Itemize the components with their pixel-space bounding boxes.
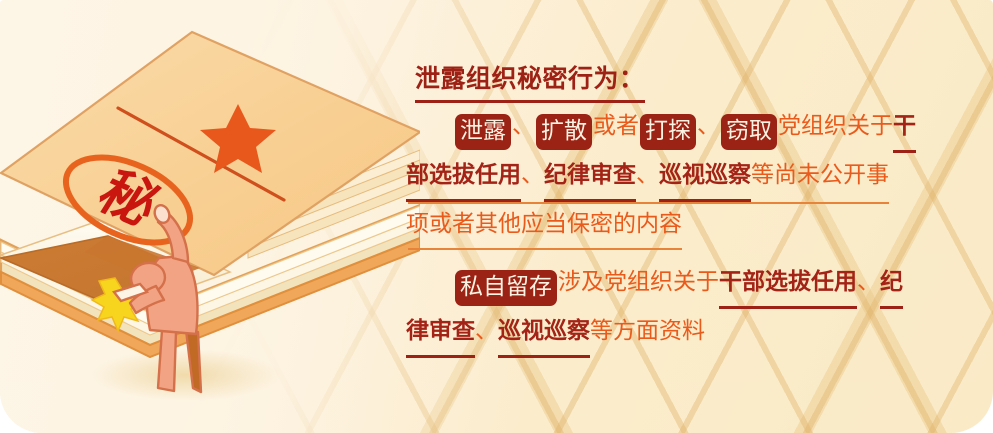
text-line: 泄露、扩散或者打探、窃取党组织关于干: [406, 106, 993, 155]
body-text: 涉及党组织关于: [558, 269, 719, 294]
highlight-tag: 扩散: [536, 114, 592, 150]
text-line-content: 私自留存涉及党组织关于干部选拔任用、纪: [406, 262, 903, 310]
text-line-content: 项或者其他应当保密的内容: [406, 204, 682, 248]
emphasized-term: 干部选拔任用: [719, 262, 857, 305]
emphasized-term: 纪: [880, 262, 903, 305]
emphasized-term: 律审查: [406, 311, 475, 354]
text-line: 部选拔任用、纪律审查、巡视巡察等尚未公开事: [406, 155, 993, 204]
body-text: 等方面资料: [590, 318, 705, 343]
body-text: 党组织关于: [778, 113, 893, 138]
ground-shadow: [90, 349, 280, 401]
emphasized-term: 部选拔任用: [406, 155, 521, 198]
text-line-content: 泄露、扩散或者打探、窃取党组织关于干: [406, 106, 916, 154]
body-text: 等尚未公开事: [751, 162, 889, 187]
body-text: 项或者其他应当保密的内容: [406, 211, 682, 236]
text-column: 泄露组织秘密行为： 泄露、扩散或者打探、窃取党组织关于干部选拔任用、纪律审查、巡…: [406, 0, 993, 433]
body-text: 或者: [593, 113, 639, 138]
highlight-tag: 私自留存: [455, 270, 557, 306]
page-title: 泄露组织秘密行为：: [415, 59, 645, 95]
body-text: 、: [697, 113, 720, 138]
body-text: 、: [857, 269, 880, 294]
body-text: 、: [512, 113, 535, 138]
highlight-tag: 窃取: [721, 114, 777, 150]
poster-card: 秘: [0, 0, 993, 433]
paragraph-2: 私自留存涉及党组织关于干部选拔任用、纪律审查、巡视巡察等方面资料: [406, 262, 993, 360]
body-text: 、: [636, 162, 659, 187]
illustration-secret-document: 秘: [0, 0, 420, 433]
body-text: 、: [521, 162, 544, 187]
text-line: 项或者其他应当保密的内容: [406, 204, 993, 253]
highlight-tag: 泄露: [455, 114, 511, 150]
paragraph-1: 泄露、扩散或者打探、窃取党组织关于干部选拔任用、纪律审查、巡视巡察等尚未公开事项…: [406, 106, 993, 253]
emphasized-term: 巡视巡察: [498, 311, 590, 354]
highlight-tag: 打探: [640, 114, 696, 150]
body-text: 、: [475, 318, 498, 343]
emphasized-term: 纪律审查: [544, 155, 636, 198]
illustration-svg: 秘: [0, 0, 420, 433]
text-line-content: 律审查、巡视巡察等方面资料: [406, 311, 705, 358]
page-title-underline: [415, 100, 645, 103]
page-title-text: 泄露组织秘密行为：: [415, 66, 645, 93]
text-line: 律审查、巡视巡察等方面资料: [406, 311, 993, 360]
text-line-content: 部选拔任用、纪律审查、巡视巡察等尚未公开事: [406, 155, 889, 202]
text-line: 私自留存涉及党组织关于干部选拔任用、纪: [406, 262, 993, 311]
emphasized-term: 巡视巡察: [659, 155, 751, 198]
emphasized-term: 干: [893, 106, 916, 149]
